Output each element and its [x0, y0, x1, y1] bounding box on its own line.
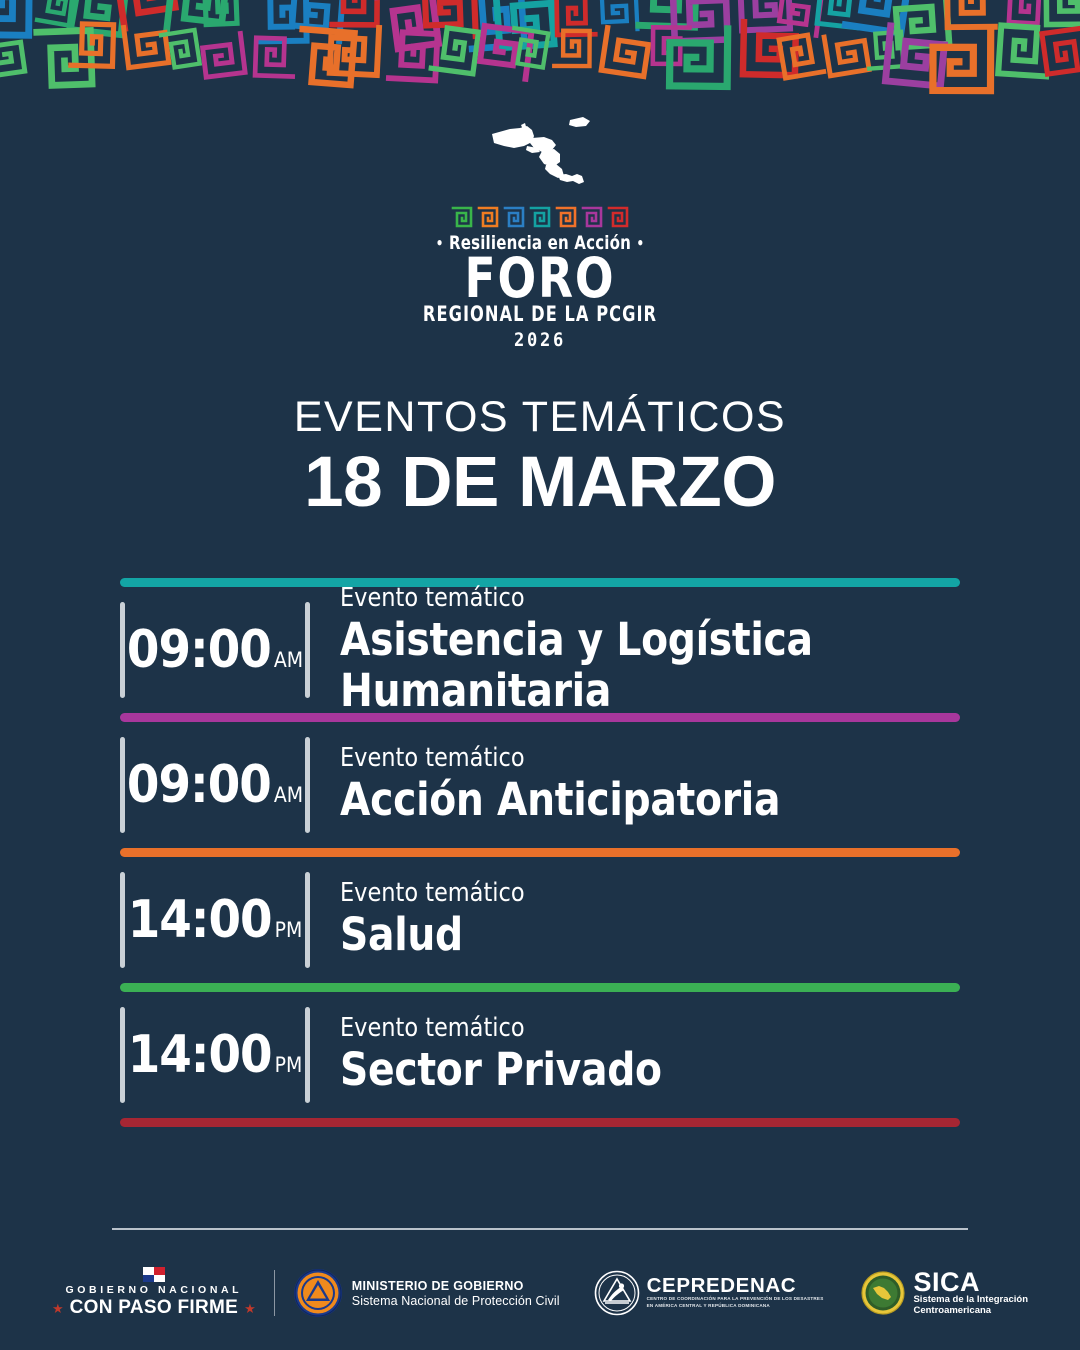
footer-divider [112, 1228, 968, 1230]
cepredenac-name: CEPREDENAC [647, 1276, 824, 1297]
schedule-event-cell: Evento temáticoSector Privado [310, 1014, 672, 1095]
logo-greca-spiral-6 [607, 206, 629, 228]
logo-subtitle: REGIONAL DE LA PCGIR [76, 302, 1005, 326]
row-bar-right [305, 602, 310, 698]
schedule-time: 09:00 [127, 755, 271, 815]
gobierno-star-left: ★ [52, 1302, 64, 1315]
tagline-dot-right: • [636, 235, 644, 253]
schedule-time-cell: 09:00AM [120, 587, 310, 713]
sica-sub2: Centroamericana [913, 1306, 1028, 1317]
schedule-event-kicker: Evento temático [340, 1014, 658, 1044]
gobierno-line1: GOBIERNO NACIONAL [66, 1284, 243, 1296]
logo-greca-spiral-3 [529, 206, 551, 228]
schedule-event-title: Asistencia y Logística Humanitaria [340, 614, 941, 717]
page-eyebrow: EVENTOS TEMÁTICOS [0, 396, 1080, 439]
schedule-event-kicker: Evento temático [340, 744, 776, 774]
schedule-event-cell: Evento temáticoAcción Anticipatoria [310, 744, 794, 825]
logo-greca-spiral-4 [555, 206, 577, 228]
schedule-row[interactable]: 09:00AMEvento temáticoAsistencia y Logís… [120, 587, 960, 713]
logo-cepredenac: CEPREDENAC CENTRO DE COORDINACIÓN PARA L… [594, 1270, 824, 1316]
row-bar-right [305, 1007, 310, 1103]
page-headline: 18 DE MARZO [0, 445, 1080, 522]
event-logo: • Resiliencia en Acción • FORO REGIONAL … [0, 112, 1080, 351]
logo-ministerio-gobierno: MINISTERIO DE GOBIERNO Sistema Nacional … [293, 1268, 560, 1318]
schedule-row[interactable]: 09:00AMEvento temáticoAcción Anticipator… [120, 722, 960, 848]
schedule-row[interactable]: 14:00PMEvento temáticoSalud [120, 857, 960, 983]
schedule-divider-4 [120, 1118, 960, 1127]
cepredenac-sub2: EN AMÉRICA CENTRAL Y REPÚBLICA DOMINICAN… [647, 1303, 824, 1310]
logo-wordmark: FORO [43, 252, 1037, 304]
sica-name: SICA [913, 1270, 1028, 1296]
logo-gobierno-nacional: GOBIERNO NACIONAL ★ CON PASO FIRME ★ [52, 1267, 256, 1319]
logo-sica: SICA Sistema de la Integración Centroame… [861, 1270, 1028, 1317]
schedule-time: 14:00 [128, 890, 272, 950]
ministerio-line2: Sistema Nacional de Protección Civil [352, 1294, 560, 1308]
sica-emblem-icon [861, 1271, 905, 1315]
schedule-meridiem: PM [275, 918, 303, 942]
schedule-divider-3 [120, 983, 960, 992]
footer-logo-separator [274, 1270, 275, 1316]
row-bar-right [305, 737, 310, 833]
schedule-event-title: Sector Privado [340, 1044, 662, 1095]
schedule-time-cell: 09:00AM [120, 722, 310, 848]
row-bar-right [305, 872, 310, 968]
page-title: EVENTOS TEMÁTICOS 18 DE MARZO [0, 396, 1080, 522]
greca-pattern-svg [0, 0, 1080, 96]
schedule-time: 09:00 [127, 620, 271, 680]
ministerio-line1: MINISTERIO DE GOBIERNO [352, 1279, 560, 1293]
schedule-row[interactable]: 14:00PMEvento temáticoSector Privado [120, 992, 960, 1118]
gobierno-line2: CON PASO FIRME [70, 1297, 239, 1319]
schedule-event-title: Acción Anticipatoria [340, 774, 780, 825]
schedule-list: 09:00AMEvento temáticoAsistencia y Logís… [120, 578, 960, 1127]
schedule-event-cell: Evento temáticoSalud [310, 879, 532, 960]
logo-greca-spiral-0 [451, 206, 473, 228]
schedule-event-kicker: Evento temático [340, 879, 525, 909]
schedule-event-cell: Evento temáticoAsistencia y Logística Hu… [310, 584, 960, 716]
gobierno-star-right: ★ [244, 1302, 256, 1315]
logo-greca-spiral-1 [477, 206, 499, 228]
cepredenac-emblem-icon [594, 1270, 640, 1316]
schedule-meridiem: AM [274, 648, 303, 672]
proteccion-civil-emblem-icon [293, 1268, 343, 1318]
header-pattern-band [0, 0, 1080, 96]
central-america-map-icon [480, 112, 600, 202]
tagline-dot-left: • [436, 235, 444, 253]
footer-logos: GOBIERNO NACIONAL ★ CON PASO FIRME ★ MIN… [0, 1258, 1080, 1328]
schedule-time-cell: 14:00PM [120, 992, 310, 1118]
schedule-time: 14:00 [128, 1025, 272, 1085]
schedule-meridiem: PM [275, 1053, 303, 1077]
logo-greca-strip [0, 206, 1080, 228]
logo-year: 2026 [54, 329, 1026, 351]
schedule-event-kicker: Evento temático [340, 584, 935, 614]
schedule-meridiem: AM [274, 783, 303, 807]
schedule-time-cell: 14:00PM [120, 857, 310, 983]
logo-greca-spiral-2 [503, 206, 525, 228]
schedule-event-title: Salud [340, 909, 526, 960]
logo-greca-spiral-5 [581, 206, 603, 228]
schedule-divider-2 [120, 848, 960, 857]
panama-flag-icon [143, 1267, 165, 1282]
